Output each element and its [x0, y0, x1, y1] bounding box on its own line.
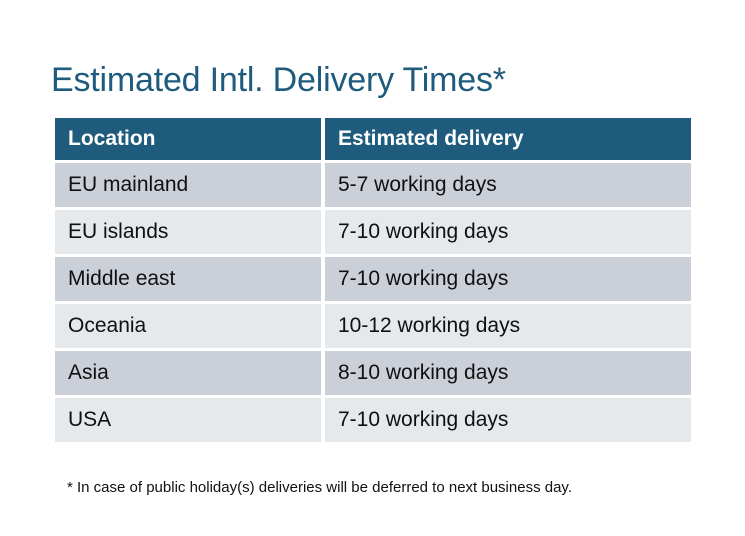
cell-location: USA: [55, 398, 321, 442]
table-row: USA 7-10 working days: [55, 398, 691, 442]
cell-location: EU mainland: [55, 163, 321, 207]
table-row: Oceania 10-12 working days: [55, 304, 691, 348]
cell-estimated-delivery: 10-12 working days: [325, 304, 691, 348]
column-header-location: Location: [55, 118, 321, 160]
cell-estimated-delivery: 7-10 working days: [325, 398, 691, 442]
table-row: Middle east 7-10 working days: [55, 257, 691, 301]
cell-estimated-delivery: 8-10 working days: [325, 351, 691, 395]
table-body: EU mainland 5-7 working days EU islands …: [55, 163, 691, 442]
delivery-times-table: Location Estimated delivery EU mainland …: [51, 115, 695, 445]
cell-estimated-delivery: 7-10 working days: [325, 257, 691, 301]
page-title: Estimated Intl. Delivery Times*: [51, 61, 506, 100]
table-header-row: Location Estimated delivery: [55, 118, 691, 160]
cell-location: Middle east: [55, 257, 321, 301]
cell-estimated-delivery: 7-10 working days: [325, 210, 691, 254]
cell-location: Oceania: [55, 304, 321, 348]
column-header-estimated-delivery: Estimated delivery: [325, 118, 691, 160]
table-row: Asia 8-10 working days: [55, 351, 691, 395]
cell-location: Asia: [55, 351, 321, 395]
delivery-times-page: Estimated Intl. Delivery Times* Location…: [0, 0, 745, 536]
cell-estimated-delivery: 5-7 working days: [325, 163, 691, 207]
table-row: EU mainland 5-7 working days: [55, 163, 691, 207]
cell-location: EU islands: [55, 210, 321, 254]
table-header: Location Estimated delivery: [55, 118, 691, 160]
footnote-text: * In case of public holiday(s) deliverie…: [67, 479, 572, 496]
table-row: EU islands 7-10 working days: [55, 210, 691, 254]
